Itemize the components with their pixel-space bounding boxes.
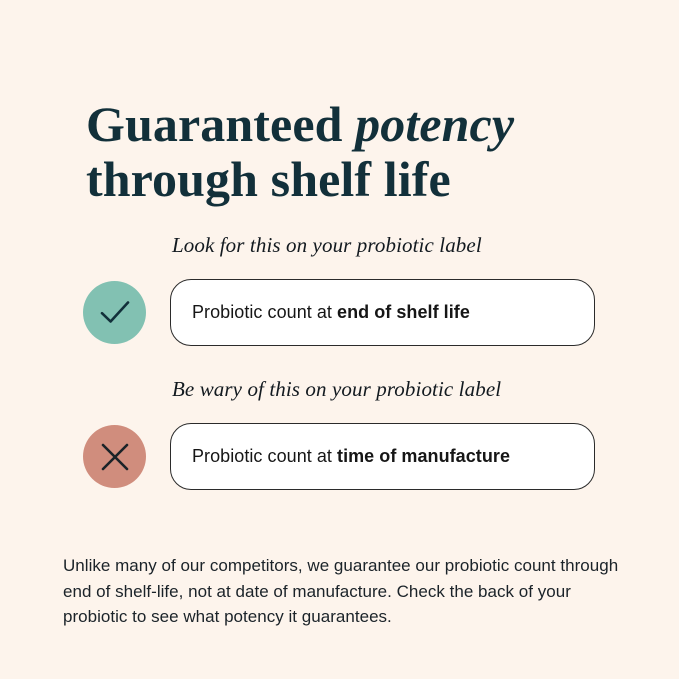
page-title: Guaranteed potencythrough shelf life <box>86 97 626 207</box>
check-badge <box>83 281 146 344</box>
promo-graphic: Guaranteed potencythrough shelf life Loo… <box>0 0 679 679</box>
headline-line1-prefix: Guaranteed <box>86 96 355 152</box>
check-icon <box>99 300 131 326</box>
pill-good-prefix: Probiotic count at <box>192 302 337 322</box>
cross-icon <box>100 442 130 472</box>
cross-badge <box>83 425 146 488</box>
pill-bad-emphasis: time of manufacture <box>337 446 510 466</box>
row-bad-label: Be wary of this on your probiotic label <box>172 376 501 402</box>
pill-good: Probiotic count at end of shelf life <box>170 279 595 346</box>
pill-bad: Probiotic count at time of manufacture <box>170 423 595 490</box>
headline-line2: through shelf life <box>86 151 451 207</box>
row-good-label: Look for this on your probiotic label <box>172 232 482 258</box>
pill-good-emphasis: end of shelf life <box>337 302 470 322</box>
footnote-text: Unlike many of our competitors, we guara… <box>63 553 623 630</box>
pill-bad-text: Probiotic count at time of manufacture <box>171 446 510 467</box>
headline-emphasis: potency <box>355 96 514 152</box>
pill-good-text: Probiotic count at end of shelf life <box>171 302 470 323</box>
pill-bad-prefix: Probiotic count at <box>192 446 337 466</box>
